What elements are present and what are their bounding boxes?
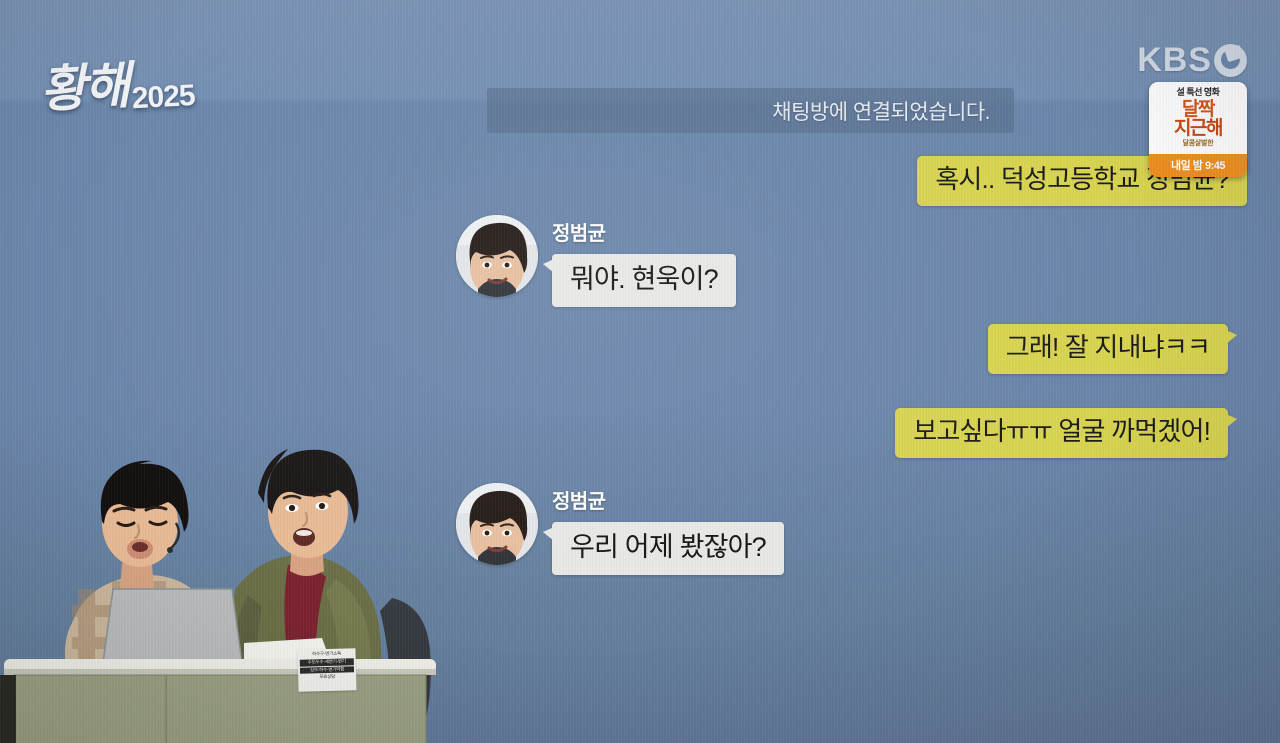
avatar — [456, 215, 538, 297]
chat-message-sent-2: 그래! 잘 지내냐ㅋㅋ — [988, 324, 1228, 374]
channel-number-icon — [1214, 44, 1247, 77]
show-title-year: 2025 — [131, 79, 195, 116]
sticker-line-3: 싱크·하수·변기막힘 — [300, 666, 354, 674]
chat-bubble-sent: 보고싶다ㅠㅠ 얼굴 까먹겠어! — [895, 408, 1228, 458]
chat-bubble-received: 우리 어제 봤잖아? — [552, 522, 784, 575]
received-message-column: 정범균 뭐야. 현욱이? — [552, 215, 736, 307]
sticker-line-4: 무료상담 — [300, 674, 354, 682]
chat-system-message: 채팅방에 연결되었습니다. — [487, 88, 1014, 133]
promo-title-line1: 달짝 — [1182, 99, 1214, 120]
promo-card-body: 설 특선 영화 달짝 지근해 달콤살벌한 — [1149, 82, 1247, 154]
promo-kicker: 설 특선 영화 — [1153, 88, 1243, 98]
laptop — [103, 589, 253, 670]
promo-subtitle: 달콤살벌한 — [1153, 138, 1243, 148]
movie-promo-card: 설 특선 영화 달짝 지근해 달콤살벌한 내일 밤 9:45 — [1149, 82, 1247, 177]
stage-performers-scene — [0, 413, 470, 743]
desk-sticker: 하수구·변기소독 수도누수·세면기·변기 싱크·하수·변기막힘 무료상담 — [297, 648, 356, 692]
promo-title: 달짝 지근해 — [1153, 101, 1243, 138]
chat-bubble-sent: 그래! 잘 지내냐ㅋㅋ — [988, 324, 1228, 374]
sticker-line-2: 수도누수·세면기·변기 — [300, 658, 354, 666]
system-message-text: 채팅방에 연결되었습니다. — [772, 96, 990, 126]
sender-name: 정범균 — [552, 217, 736, 246]
sender-name: 정범균 — [552, 485, 784, 514]
chat-bubble-received: 뭐야. 현욱이? — [552, 254, 736, 307]
channel-name-text: KBS — [1137, 41, 1212, 80]
received-message-column: 정범균 우리 어제 봤잖아? — [552, 483, 784, 575]
promo-airtime: 내일 밤 9:45 — [1149, 154, 1247, 177]
show-title-text: 황해 — [38, 45, 130, 122]
promo-title-line2: 지근해 — [1153, 120, 1243, 139]
sticker-line-1: 하수구·변기소독 — [300, 650, 354, 658]
broadcast-frame: 하수구·변기소독 수도누수·세면기·변기 싱크·하수·변기막힘 무료상담 채팅방… — [0, 0, 1280, 743]
kbs2-channel-logo: KBS — [1137, 41, 1247, 80]
show-title-logo: 황해 2025 — [38, 42, 195, 122]
chat-message-received-2: 정범균 우리 어제 봤잖아? — [456, 483, 784, 575]
chat-message-received-1: 정범균 뭐야. 현욱이? — [456, 215, 736, 307]
desk — [0, 659, 436, 743]
chat-message-sent-3: 보고싶다ㅠㅠ 얼굴 까먹겠어! — [895, 408, 1228, 458]
